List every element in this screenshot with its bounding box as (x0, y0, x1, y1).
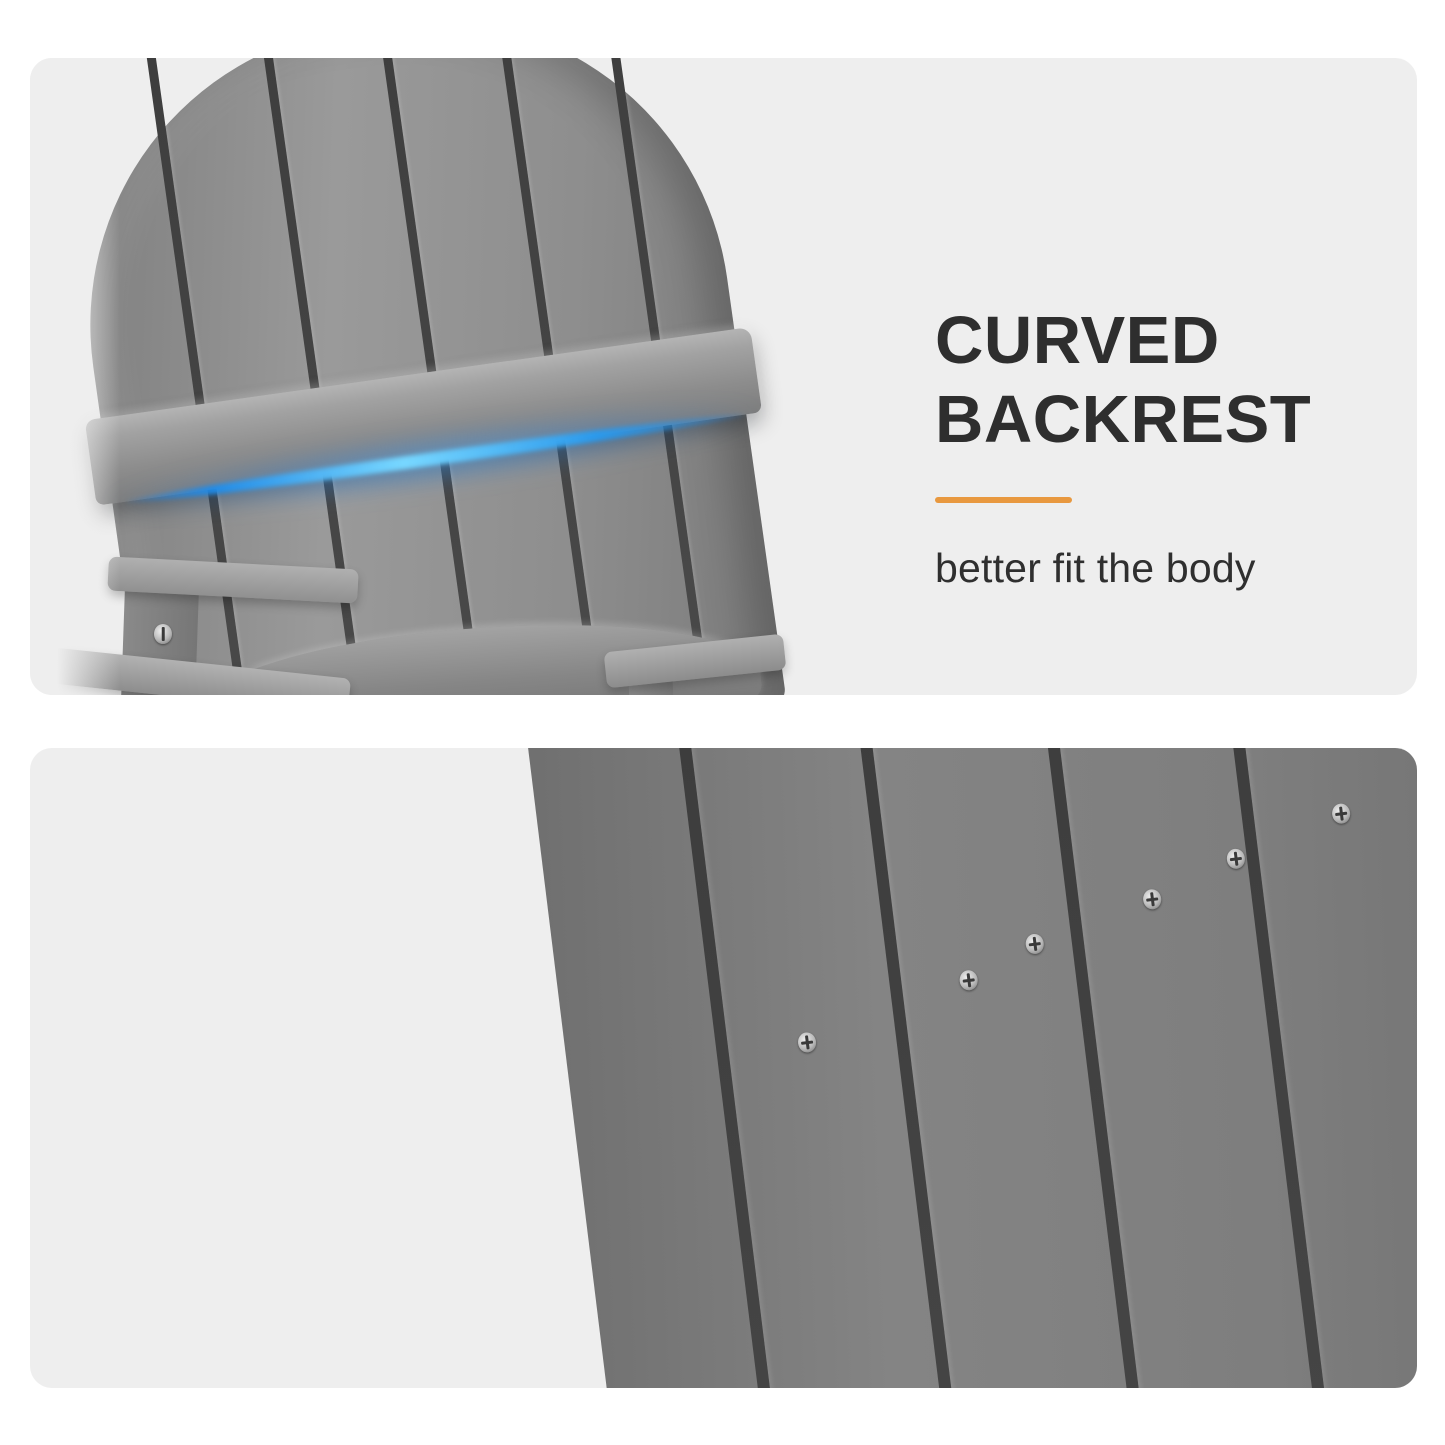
slat-gap (656, 748, 814, 1388)
product-photo-wide-armrests (30, 748, 1417, 1388)
screw-icon (1331, 803, 1351, 825)
screw-icon (959, 969, 979, 991)
feature-subtext: better fit the body (935, 545, 1311, 592)
slat-gap (834, 748, 992, 1388)
infographic-page: CURVED BACKREST better fit the body (0, 0, 1445, 1445)
feature-headline: CURVED BACKREST (935, 301, 1311, 459)
feature-text-curved-backrest: CURVED BACKREST better fit the body (935, 301, 1311, 592)
slat-gap (1202, 748, 1360, 1388)
chair-backrest-slat-panel (514, 748, 1417, 1388)
accent-divider (935, 497, 1072, 503)
screw-icon (1025, 933, 1045, 955)
feature-panel-wide-armrests: WIDE ARMRESTS for better arm relaxation (30, 748, 1417, 1388)
screw-icon (154, 624, 172, 644)
slat-gap (1384, 748, 1417, 1388)
screw-icon (1142, 888, 1162, 910)
feature-panel-curved-backrest: CURVED BACKREST better fit the body (30, 58, 1417, 695)
screw-icon (797, 1031, 817, 1053)
slat-gap (1019, 748, 1177, 1388)
screw-icon (1226, 848, 1246, 870)
